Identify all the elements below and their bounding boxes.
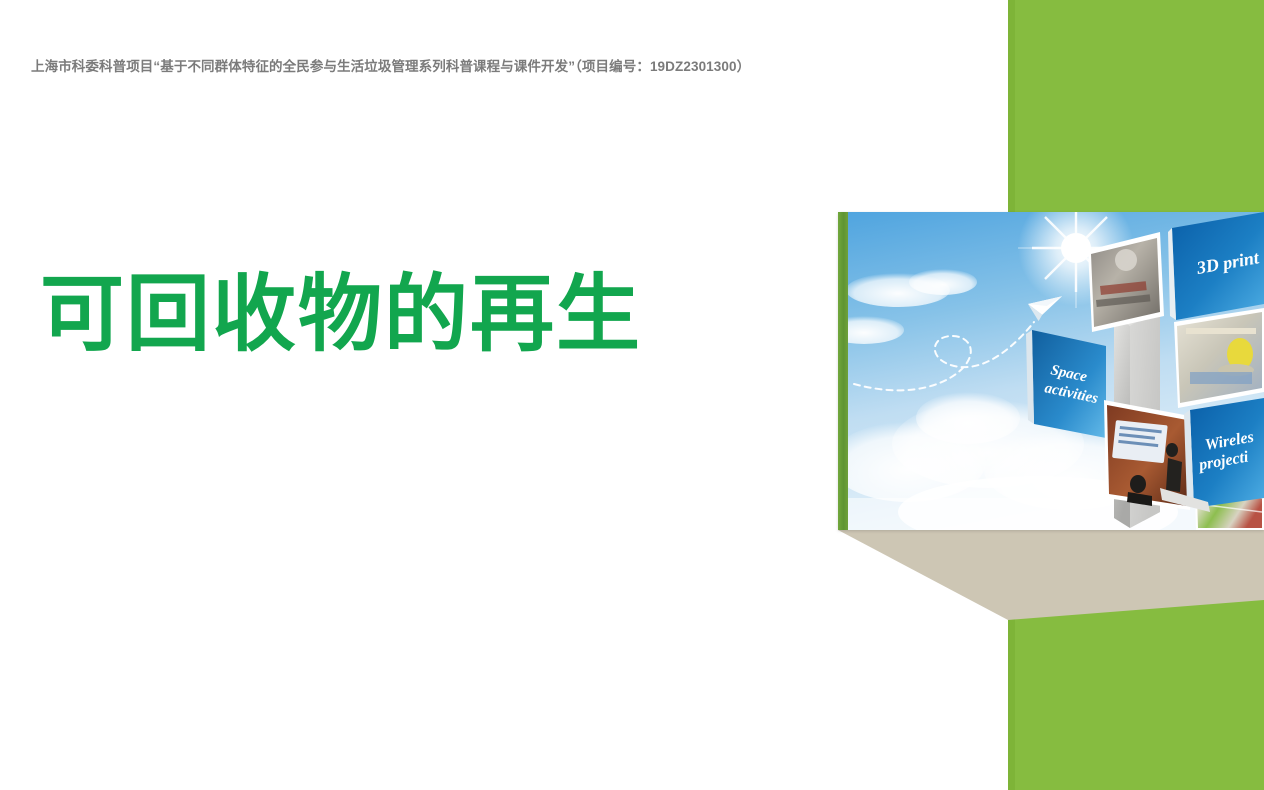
project-header-text: 上海市科委科普项目“基于不同群体特征的全民参与生活垃圾管理系列科普课程与课件开发… — [31, 55, 861, 75]
hero-photo: 3D print Space activities — [838, 212, 1264, 530]
tan-angled-shadow — [838, 528, 1264, 620]
slide-canvas: 上海市科委科普项目“基于不同群体特征的全民参与生活垃圾管理系列科普课程与课件开发… — [0, 0, 1264, 790]
photo-left-green-border — [838, 212, 848, 530]
page-title: 可回收物的再生 — [40, 272, 642, 356]
hero-photo-svg: 3D print Space activities — [838, 212, 1264, 530]
tan-angled-shadow-svg — [838, 528, 1264, 620]
